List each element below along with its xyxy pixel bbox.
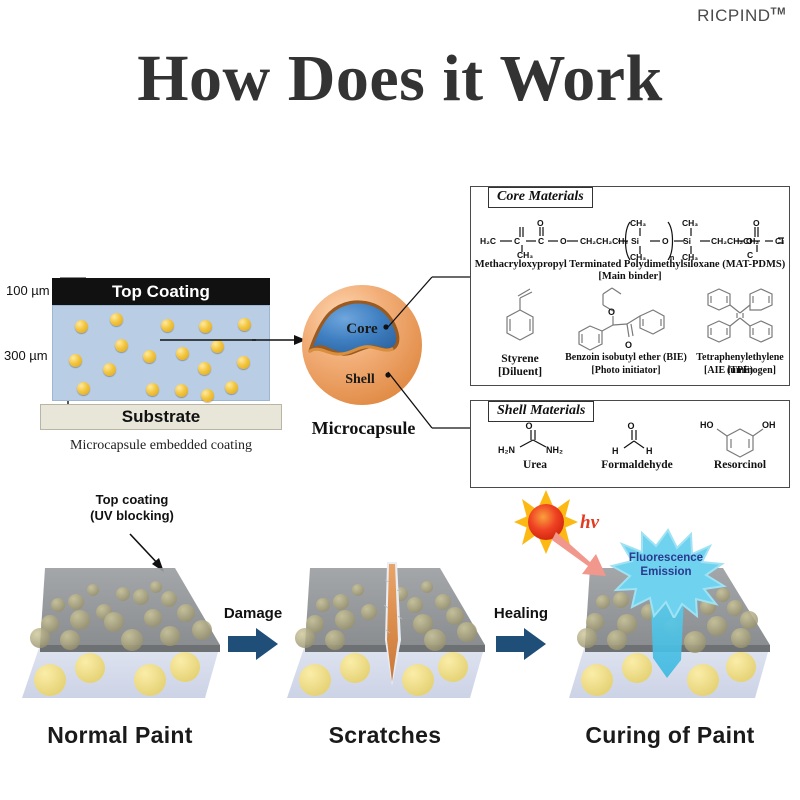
svg-text:H₂N: H₂N [498,445,515,455]
bie-role: [Photo initiator] [560,365,692,378]
svg-text:C: C [514,236,520,246]
svg-text:NH₂: NH₂ [546,445,563,455]
svg-text:HO: HO [700,420,714,430]
bie-structure: O O [572,286,682,352]
svg-text:O: O [662,236,669,246]
svg-text:O: O [627,421,634,431]
svg-text:O: O [625,340,632,350]
tpe-structure [694,288,786,350]
svg-text:H: H [646,446,653,456]
styrene-structure [492,288,548,350]
resorcinol-name: Resorcinol [690,458,790,472]
mat-pdms-structure: H₂C C C O O CH₂CH₂CH₂ CH₃ Si CH₃ CH₃ O S… [478,214,784,260]
urea-structure: O H₂N NH₂ [496,420,574,460]
svg-text:CH₂CH₂CH₂: CH₂CH₂CH₂ [580,236,628,246]
capsule-shell-label: Shell [345,372,375,387]
svg-text:H₂C: H₂C [480,236,496,246]
cross-section-coating-body [52,305,270,401]
healing-arrow [494,626,550,666]
panel-scratches [275,550,505,715]
styrene-role: [Diluent] [478,365,562,379]
core-materials-title: Core Materials [488,187,593,208]
svg-text:Si: Si [631,236,639,246]
urea-name: Urea [492,458,578,472]
tpe-role: [AIE luminogen] [690,365,790,378]
formaldehyde-name: Formaldehyde [592,458,682,472]
capsule-core-label: Core [346,321,378,337]
dimension-top-coating: 100 µm [6,283,50,298]
cross-section-diagram: Top Coating Substrate [52,278,270,438]
photon-symbol: hν [580,512,599,534]
cross-section-substrate: Substrate [40,404,282,430]
brand-name: RICPIND [697,6,770,25]
svg-text:Si: Si [683,236,691,246]
page-title: How Does it Work [0,46,800,112]
svg-text:CH₂: CH₂ [775,236,784,246]
svg-text:O: O [746,236,753,246]
shell-materials-title: Shell Materials [488,401,594,422]
capsule-leader-line [160,334,260,346]
resorcinol-structure: HO OH [700,416,780,462]
stage-label-curing-of-paint: Curing of Paint [545,722,795,749]
top-coating-callout-line1: Top coating [62,492,202,508]
svg-text:O: O [537,218,544,228]
svg-text:O: O [525,421,532,431]
svg-text:H: H [612,446,619,456]
svg-text:C: C [538,236,544,246]
stage-label-normal-paint: Normal Paint [0,722,240,749]
cross-section-top-coating: Top Coating [52,278,270,305]
bie-name: Benzoin isobutyl ether (BIE) [560,352,692,365]
brand-logo: RICPINDTM [697,6,786,26]
svg-text:OH: OH [762,420,776,430]
stage-label-scratches: Scratches [265,722,505,749]
panel-normal-paint [10,550,240,715]
mat-pdms-role: [Main binder] [470,270,790,284]
svg-text:CH₃: CH₃ [682,218,698,228]
formaldehyde-structure: O H H [600,420,670,460]
brand-trademark: TM [771,6,786,17]
svg-text:O: O [753,218,760,228]
svg-text:CH₃: CH₃ [630,218,646,228]
cross-section-caption: Microcapsule embedded coating [30,438,292,454]
svg-text:O: O [608,307,615,317]
damage-arrow [226,626,282,666]
svg-text:O: O [560,236,567,246]
capsule-shell-leader [380,370,480,460]
top-coating-callout: Top coating (UV blocking) [62,492,202,525]
dimension-coating-body: 300 µm [4,348,48,363]
top-coating-callout-line2: (UV blocking) [62,508,202,524]
uv-light-arrow [552,528,632,588]
